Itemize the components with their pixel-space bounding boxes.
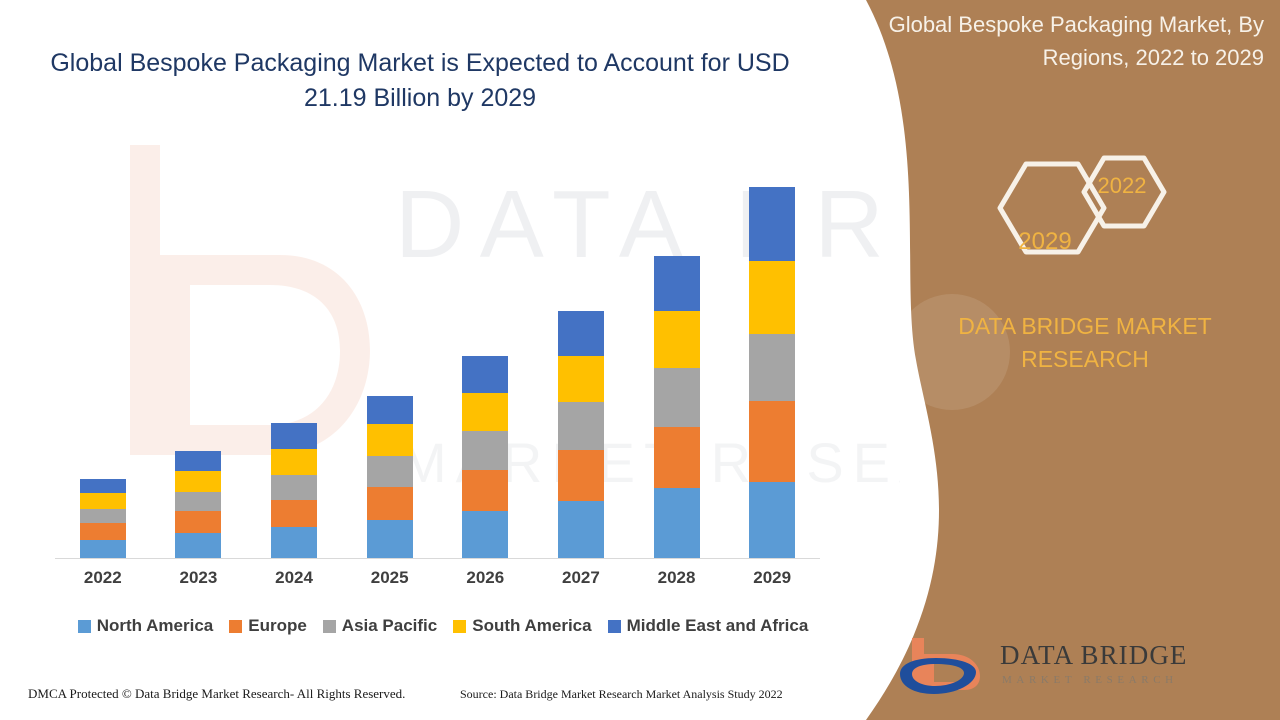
bar-segment — [462, 393, 508, 432]
bar-segment — [749, 401, 795, 482]
logo-text-main: DATA BRIDGE — [1000, 640, 1187, 671]
chart-legend: North AmericaEuropeAsia PacificSouth Ame… — [48, 616, 838, 636]
x-axis-label-2025: 2025 — [367, 568, 413, 588]
bar-segment — [175, 533, 221, 558]
bar-segment — [271, 423, 317, 449]
bar-segment — [558, 501, 604, 558]
legend-item[interactable]: North America — [78, 616, 214, 636]
bar-segment — [749, 334, 795, 401]
bar-segment — [271, 527, 317, 558]
footer-copyright: DMCA Protected © Data Bridge Market Rese… — [28, 686, 405, 702]
bar-segment — [175, 511, 221, 533]
bar-segment — [367, 456, 413, 487]
bar-segment — [271, 475, 317, 500]
legend-swatch-icon — [78, 620, 91, 633]
x-axis-label-2024: 2024 — [271, 568, 317, 588]
bar-segment — [654, 488, 700, 558]
legend-swatch-icon — [323, 620, 336, 633]
bar-segment — [367, 520, 413, 558]
legend-item[interactable]: Europe — [229, 616, 307, 636]
bar-segment — [558, 356, 604, 403]
chart-x-axis-labels: 20222023202420252026202720282029 — [55, 568, 820, 588]
legend-label: North America — [97, 616, 214, 636]
bar-column-2028 — [654, 256, 700, 558]
bar-segment — [271, 449, 317, 475]
bar-segment — [367, 396, 413, 424]
bar-segment — [80, 493, 126, 509]
legend-label: Asia Pacific — [342, 616, 437, 636]
bar-segment — [271, 500, 317, 527]
bar-segment — [80, 509, 126, 523]
x-axis-label-2022: 2022 — [80, 568, 126, 588]
logo-mark-icon — [890, 634, 1000, 700]
hexagon-2022-label: 2022 — [1072, 173, 1172, 199]
bar-segment — [654, 427, 700, 489]
legend-item[interactable]: Middle East and Africa — [608, 616, 809, 636]
hexagon-year-badges: 2029 2022 — [980, 148, 1180, 278]
bar-segment — [367, 424, 413, 456]
bar-column-2029 — [749, 187, 795, 558]
legend-label: Europe — [248, 616, 307, 636]
bar-segment — [749, 187, 795, 261]
bar-segment — [654, 368, 700, 427]
brand-panel-title: Global Bespoke Packaging Market, By Regi… — [888, 8, 1272, 74]
legend-label: Middle East and Africa — [627, 616, 809, 636]
bar-segment — [462, 431, 508, 470]
brand-panel-content: Global Bespoke Packaging Market, By Regi… — [880, 0, 1280, 720]
bar-column-2023 — [175, 451, 221, 558]
bar-segment — [558, 402, 604, 450]
legend-item[interactable]: South America — [453, 616, 591, 636]
bar-column-2025 — [367, 396, 413, 558]
bar-segment — [175, 471, 221, 492]
bar-segment — [462, 470, 508, 511]
bar-segment — [462, 356, 508, 393]
page-title: Global Bespoke Packaging Market is Expec… — [40, 46, 800, 116]
company-logo: DATA BRIDGE MARKET RESEARCH — [890, 632, 1280, 702]
x-axis-label-2026: 2026 — [462, 568, 508, 588]
bar-column-2022 — [80, 479, 126, 558]
bar-segment — [80, 479, 126, 493]
bar-segment — [749, 482, 795, 558]
x-axis-label-2023: 2023 — [175, 568, 221, 588]
legend-swatch-icon — [608, 620, 621, 633]
hexagon-2029-label: 2029 — [990, 228, 1100, 256]
x-axis-label-2029: 2029 — [749, 568, 795, 588]
x-axis-label-2028: 2028 — [654, 568, 700, 588]
logo-text-sub: MARKET RESEARCH — [1002, 674, 1178, 686]
bar-segment — [654, 311, 700, 368]
bar-segment — [175, 451, 221, 471]
legend-label: South America — [472, 616, 591, 636]
bar-segment — [654, 256, 700, 311]
brand-name: DATA BRIDGE MARKET RESEARCH — [900, 310, 1270, 376]
bar-column-2026 — [462, 356, 508, 558]
legend-swatch-icon — [229, 620, 242, 633]
bar-segment — [175, 492, 221, 511]
bar-segment — [80, 523, 126, 540]
bar-segment — [80, 540, 126, 558]
x-axis-label-2027: 2027 — [558, 568, 604, 588]
bar-column-2027 — [558, 311, 604, 558]
legend-swatch-icon — [453, 620, 466, 633]
footer-source: Source: Data Bridge Market Research Mark… — [460, 687, 783, 702]
bar-segment — [558, 311, 604, 356]
chart-panel: DATA BRIDGE MARKET RESEARCH Global Bespo… — [0, 0, 900, 720]
bar-segment — [558, 450, 604, 501]
bar-segment — [749, 261, 795, 335]
bar-segment — [462, 511, 508, 558]
legend-item[interactable]: Asia Pacific — [323, 616, 437, 636]
bar-column-2024 — [271, 423, 317, 558]
chart-bars — [55, 150, 820, 558]
chart-axis-line — [55, 558, 820, 559]
bar-segment — [367, 487, 413, 520]
